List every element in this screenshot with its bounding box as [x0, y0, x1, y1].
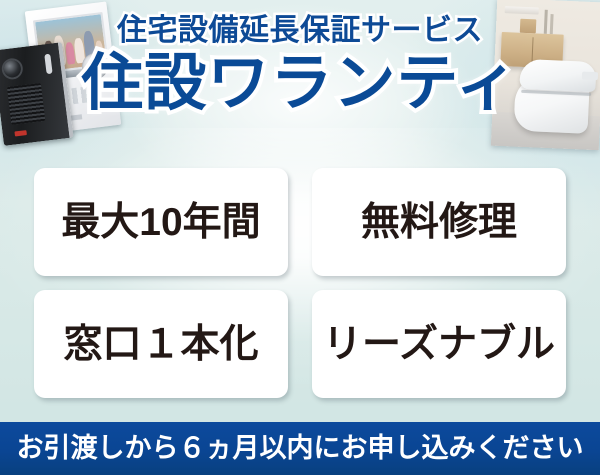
service-subtitle: 住宅設備延長保証サービス — [0, 16, 600, 46]
feature-grid: 最大10年間 無料修理 窓口１本化 リーズナブル — [34, 168, 566, 398]
headline-group: 住宅設備延長保証サービス 住設ワランティ — [0, 16, 600, 116]
feature-box-reasonable: リーズナブル — [312, 290, 566, 398]
feature-label: リーズナブル — [323, 325, 555, 364]
feature-label: 無料修理 — [361, 203, 517, 242]
feature-box-single-contact: 窓口１本化 — [34, 290, 288, 398]
call-button — [14, 130, 27, 136]
feature-box-free-repair: 無料修理 — [312, 168, 566, 276]
footer-notice-bar: お引渡しから６ヵ月以内にお申し込みください — [0, 422, 600, 475]
footer-notice-text: お引渡しから６ヵ月以内にお申し込みください — [17, 435, 584, 462]
page-title: 住設ワランティ — [0, 52, 600, 116]
promo-banner: 住宅設備延長保証サービス 住設ワランティ 最大10年間 無料修理 窓口１本化 リ… — [0, 0, 600, 475]
wall-shelf — [505, 6, 539, 14]
feature-box-duration: 最大10年間 — [34, 168, 288, 276]
feature-label: 窓口１本化 — [63, 325, 258, 364]
feature-label: 最大10年間 — [61, 203, 260, 242]
